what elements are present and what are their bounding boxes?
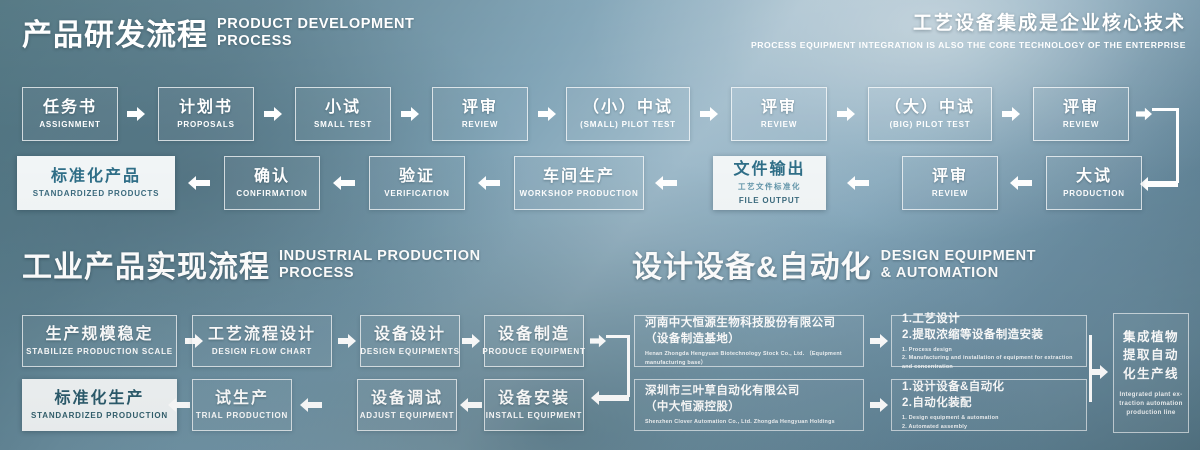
result-title-cn-line2: 提取自动 [1123,346,1179,364]
arrow-right-icon [700,106,718,122]
node-title-cn: 文件输出 [733,161,805,179]
arrow-right-icon [401,106,419,122]
content-layer: 产品研发流程 PRODUCT DEVELOPMENT PROCESS 工艺设备集… [0,0,1200,450]
node-title-en: DESIGN FLOW CHART [212,347,312,356]
flow-node-proposals[interactable]: 计划书 PROPOSALS [158,87,254,141]
flow-node-small-test[interactable]: 小试 SMALL TEST [295,87,391,141]
connector-vertical [1176,108,1179,183]
company-role-cn: （设备制造基地） [645,332,854,348]
node-title-en: ASSIGNMENT [39,120,100,129]
flow-node-produce-equipment[interactable]: 设备制造 PRODUCE EQUIPMENT [484,315,584,367]
node-title-en: REVIEW [932,189,968,198]
section-heading-en: PRODUCT DEVELOPMENT PROCESS [217,16,415,50]
arrow-left-icon [847,175,869,191]
node-title-cn: （小）中试 [583,99,673,117]
node-title-en: FILE OUTPUT [739,196,800,205]
node-title-en: REVIEW [761,120,797,129]
arrow-right-icon [462,333,480,349]
node-title-cn: 大试 [1076,168,1112,186]
arrow-left-icon [589,390,629,406]
flow-node-review-3[interactable]: 评审 REVIEW [1033,87,1129,141]
result-title-cn-line3: 化生产线 [1123,365,1179,383]
flow-node-adjust-equipment[interactable]: 设备调试 ADJUST EQUIPMENT [357,379,457,431]
node-title-cn: 设备制造 [498,326,570,344]
arrow-left-icon [188,175,210,191]
result-title-en: Integrated plant ex- traction automation… [1119,390,1182,418]
flow-node-confirmation[interactable]: 确认 CONFIRMATION [224,156,320,210]
section-heading-en-line1: INDUSTRIAL PRODUCTION [279,248,481,265]
infographic-canvas: 产品研发流程 PRODUCT DEVELOPMENT PROCESS 工艺设备集… [0,0,1200,450]
section-heading-cn: 设计设备&自动化 [632,253,872,283]
capability-line-2-cn: 2.自动化装配 [902,396,1077,412]
node-title-cn: 评审 [462,99,498,117]
section-heading-en-line2: & AUTOMATION [881,265,1036,282]
arrow-left-icon [1138,176,1178,192]
arrow-left-icon [300,397,322,413]
node-title-cn: 小试 [325,99,361,117]
node-subtitle-cn: 工艺文件标准化 [738,181,801,192]
arrow-left-icon [478,175,500,191]
arrow-left-icon [1010,175,1032,191]
node-title-cn: 确认 [254,168,290,186]
node-title-cn: （大）中试 [885,99,975,117]
tagline: 工艺设备集成是企业核心技术 PROCESS EQUIPMENT INTEGRAT… [751,14,1186,50]
node-title-en: WORKSHOP PRODUCTION [519,189,638,198]
node-title-en: STANDARDIZED PRODUCTS [33,189,159,198]
flow-node-verification[interactable]: 验证 VERIFICATION [369,156,465,210]
section-heading-en: INDUSTRIAL PRODUCTION PROCESS [279,248,481,282]
arrow-left-icon [168,397,190,413]
company-role-cn: （中大恒源控股） [645,400,854,416]
arrow-right-icon [870,333,888,349]
node-title-en: STABILIZE PRODUCTION SCALE [26,347,173,356]
node-title-en: ADJUST EQUIPMENT [360,411,455,420]
node-title-cn: 评审 [1063,99,1099,117]
section-heading-design-automation: 设计设备&自动化 DESIGN EQUIPMENT & AUTOMATION [632,248,1036,283]
arrow-right-icon [837,106,855,122]
node-title-en: PRODUCE EQUIPMENT [482,347,585,356]
company-name-en: Henan Zhongda Hengyuan Biotechnology Sto… [645,350,854,366]
arrow-right-icon [590,333,606,349]
flow-node-small-pilot-test[interactable]: （小）中试 (SMALL) PILOT TEST [566,87,690,141]
tagline-en: PROCESS EQUIPMENT INTEGRATION IS ALSO TH… [751,40,1186,50]
arrow-left-icon [333,175,355,191]
section-heading-industrial-production: 工业产品实现流程 INDUSTRIAL PRODUCTION PROCESS [22,248,481,283]
node-title-en: (SMALL) PILOT TEST [580,120,676,129]
node-title-en: INSTALL EQUIPMENT [486,411,582,420]
flow-node-big-pilot-test[interactable]: （大）中试 (BIG) PILOT TEST [868,87,992,141]
flow-node-design-flow-chart[interactable]: 工艺流程设计 DESIGN FLOW CHART [192,315,332,367]
capability-en: 1. Design equipment & automation 2. Auto… [902,414,1077,430]
tagline-cn: 工艺设备集成是企业核心技术 [751,14,1186,35]
node-title-en: (BIG) PILOT TEST [890,120,971,129]
connector-horizontal [1152,108,1179,111]
result-title-cn: 集成植物 提取自动 化生产线 [1123,328,1179,382]
connector-vertical [627,335,630,397]
node-title-cn: 验证 [399,168,435,186]
flow-node-stabilize-production-scale[interactable]: 生产规模稳定 STABILIZE PRODUCTION SCALE [22,315,177,367]
company-card-shenzhen-clover-automation[interactable]: 深圳市三叶草自动化有限公司 （中大恒源控股） Shenzhen Clover A… [634,379,864,431]
result-title-en-line1: Integrated plant ex- [1119,390,1182,399]
capability-line-2-cn: 2.提取浓缩等设备制造安装 [902,328,1077,344]
company-name-en: Shenzhen Clover Automation Co., Ltd. Zho… [645,418,854,426]
section-heading-en-line2: PROCESS [217,33,415,50]
capability-line-2-en: 2. Manufacturing and installation of equ… [902,354,1077,370]
company-name-cn: 河南中大恒源生物科技股份有限公司 [645,316,854,332]
arrow-right-icon [338,333,356,349]
flow-node-standardized-production[interactable]: 标准化生产 STANDARDIZED PRODUCTION [22,379,177,431]
flow-node-review-1[interactable]: 评审 REVIEW [432,87,528,141]
node-title-en: VERIFICATION [384,189,449,198]
node-title-cn: 任务书 [43,99,97,117]
capability-card-design-automation[interactable]: 1.设计设备&自动化 2.自动化装配 1. Design equipment &… [891,379,1087,431]
capability-line-1-en: 1. Process design [902,346,1077,354]
node-title-cn: 设备安装 [498,390,570,408]
result-title-en-line2: traction automation [1119,399,1182,408]
section-heading-en: DESIGN EQUIPMENT & AUTOMATION [881,248,1036,282]
section-heading-en-line1: PRODUCT DEVELOPMENT [217,16,415,33]
node-title-cn: 评审 [932,168,968,186]
flow-node-workshop-production[interactable]: 车间生产 WORKSHOP PRODUCTION [514,156,644,210]
arrow-right-icon [1136,106,1152,122]
node-title-cn: 工艺流程设计 [208,326,316,344]
capability-line-1-cn: 1.工艺设计 [902,312,1077,328]
capability-card-process-design[interactable]: 1.工艺设计 2.提取浓缩等设备制造安装 1. Process design 2… [891,315,1087,367]
section-heading-cn: 工业产品实现流程 [22,253,270,283]
result-title-en-line3: production line [1119,408,1182,417]
result-title-cn-line1: 集成植物 [1123,328,1179,346]
node-title-en: STANDARDIZED PRODUCTION [31,411,168,420]
node-title-en: TRIAL PRODUCTION [196,411,288,420]
section-heading-cn: 产品研发流程 [22,21,208,51]
arrow-right-icon [1002,106,1020,122]
arrow-left-icon [655,175,677,191]
node-title-en: REVIEW [1063,120,1099,129]
flow-node-trial-production[interactable]: 试生产 TRIAL PRODUCTION [192,379,292,431]
section-heading-en-line2: PROCESS [279,265,481,282]
arrow-right-icon [870,397,888,413]
arrow-right-icon [127,106,145,122]
flow-node-review-4[interactable]: 评审 REVIEW [902,156,998,210]
node-title-cn: 设备设计 [374,326,446,344]
node-title-en: SMALL TEST [314,120,372,129]
capability-en: 1. Process design 2. Manufacturing and i… [902,346,1077,370]
flow-node-assignment[interactable]: 任务书 ASSIGNMENT [22,87,118,141]
node-title-cn: 车间生产 [543,168,615,186]
flow-node-production-big[interactable]: 大试 PRODUCTION [1046,156,1142,210]
node-title-cn: 试生产 [215,390,269,408]
flow-node-file-output[interactable]: 文件输出 工艺文件标准化 FILE OUTPUT [713,156,826,210]
node-title-en: DESIGN EQUIPMENTS [360,347,459,356]
flow-node-install-equipment[interactable]: 设备安装 INSTALL EQUIPMENT [484,379,584,431]
capability-line-1-cn: 1.设计设备&自动化 [902,380,1077,396]
arrow-right-icon [538,106,556,122]
arrow-right-icon [264,106,282,122]
capability-line-1-en: 1. Design equipment & automation [902,414,1077,422]
node-title-cn: 设备调试 [371,390,443,408]
flow-node-review-2[interactable]: 评审 REVIEW [731,87,827,141]
result-card-integrated-production-line[interactable]: 集成植物 提取自动 化生产线 Integrated plant ex- trac… [1113,313,1189,433]
node-title-en: PRODUCTION [1063,189,1125,198]
node-title-cn: 标准化产品 [51,168,141,186]
section-heading-product-development: 产品研发流程 PRODUCT DEVELOPMENT PROCESS [22,16,415,51]
node-title-cn: 生产规模稳定 [45,326,153,344]
node-title-cn: 标准化生产 [54,390,144,408]
node-title-en: PROPOSALS [177,120,234,129]
flow-node-design-equipments[interactable]: 设备设计 DESIGN EQUIPMENTS [360,315,460,367]
arrow-left-icon [460,397,482,413]
section-heading-en-line1: DESIGN EQUIPMENT [881,248,1036,265]
flow-node-standardized-products[interactable]: 标准化产品 STANDARDIZED PRODUCTS [17,156,175,210]
node-title-cn: 评审 [761,99,797,117]
arrow-right-icon [1090,364,1108,380]
node-title-cn: 计划书 [179,99,233,117]
node-title-en: CONFIRMATION [236,189,307,198]
company-card-henan-zhongda-hengyuan[interactable]: 河南中大恒源生物科技股份有限公司 （设备制造基地） Henan Zhongda … [634,315,864,367]
company-name-cn: 深圳市三叶草自动化有限公司 [645,384,854,400]
capability-line-2-en: 2. Automated assembly [902,423,1077,431]
node-title-en: REVIEW [462,120,498,129]
